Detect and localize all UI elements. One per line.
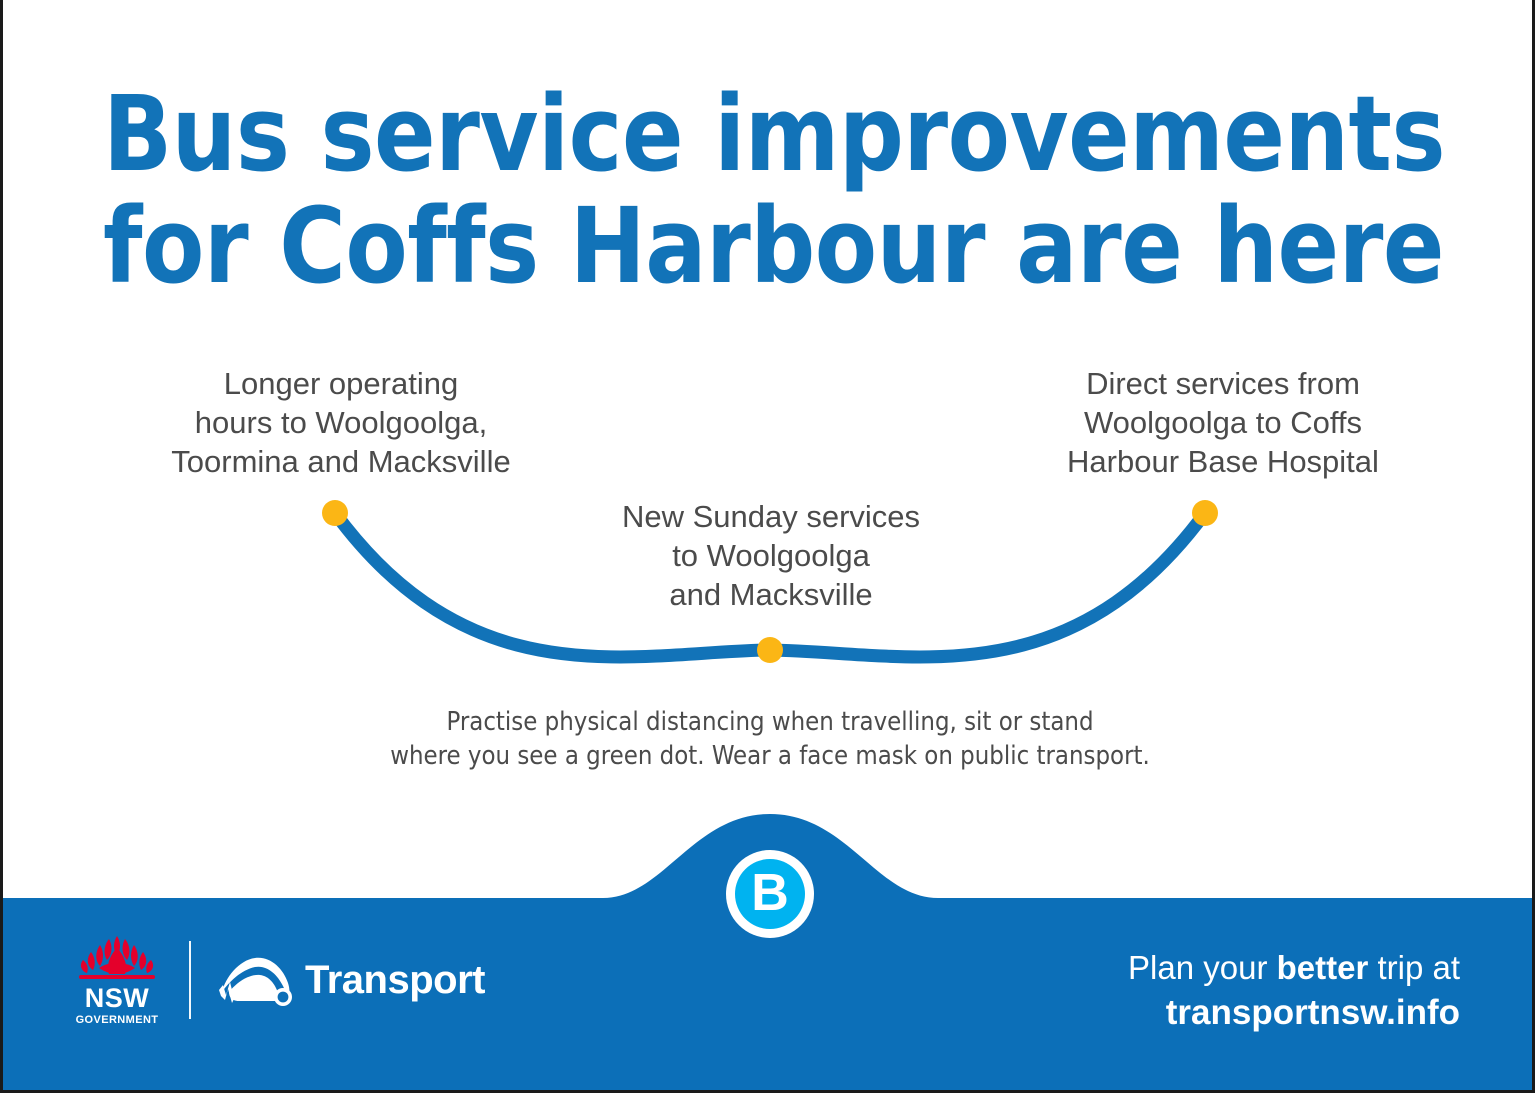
transport-wordmark: Transport [305, 960, 485, 1000]
tagline-url[interactable]: transportnsw.info [1128, 990, 1460, 1036]
tagline-suffix: trip at [1368, 949, 1460, 986]
transport-logo: Transport [217, 952, 485, 1008]
covid-safety-note: Practise physical distancing when travel… [270, 706, 1270, 774]
callout-new-sunday-services: New Sunday services to Woolgoolga and Ma… [581, 497, 961, 614]
bus-mode-badge: B [726, 850, 814, 938]
headline-line-1: Bus service improvements [103, 78, 1422, 190]
callout-direct-services: Direct services from Woolgoolga to Coffs… [1023, 364, 1423, 481]
poster-canvas: Bus service improvements for Coffs Harbo… [0, 0, 1535, 1093]
route-stop-left [322, 500, 348, 526]
route-stop-right [1192, 500, 1218, 526]
logo-lockup: NSW GOVERNMENT Transport [71, 932, 485, 1028]
page-title: Bus service improvements for Coffs Harbo… [103, 78, 1422, 303]
nsw-title: NSW [85, 985, 150, 1012]
nsw-government-logo: NSW GOVERNMENT [71, 934, 163, 1026]
headline-line-2: for Coffs Harbour are here [103, 190, 1422, 302]
tagline-prefix: Plan your [1128, 949, 1277, 986]
callout-longer-operating-hours: Longer operating hours to Woolgoolga, To… [141, 364, 541, 481]
route-stop-middle [757, 637, 783, 663]
bus-badge-letter: B [735, 859, 805, 929]
transport-swoosh-icon [217, 952, 301, 1008]
logo-divider [189, 941, 191, 1019]
tagline: Plan your better trip at transportnsw.in… [1128, 946, 1460, 1036]
waratah-icon [73, 934, 161, 982]
nsw-subtitle: GOVERNMENT [76, 1015, 159, 1026]
tagline-bold-word: better [1277, 949, 1369, 986]
